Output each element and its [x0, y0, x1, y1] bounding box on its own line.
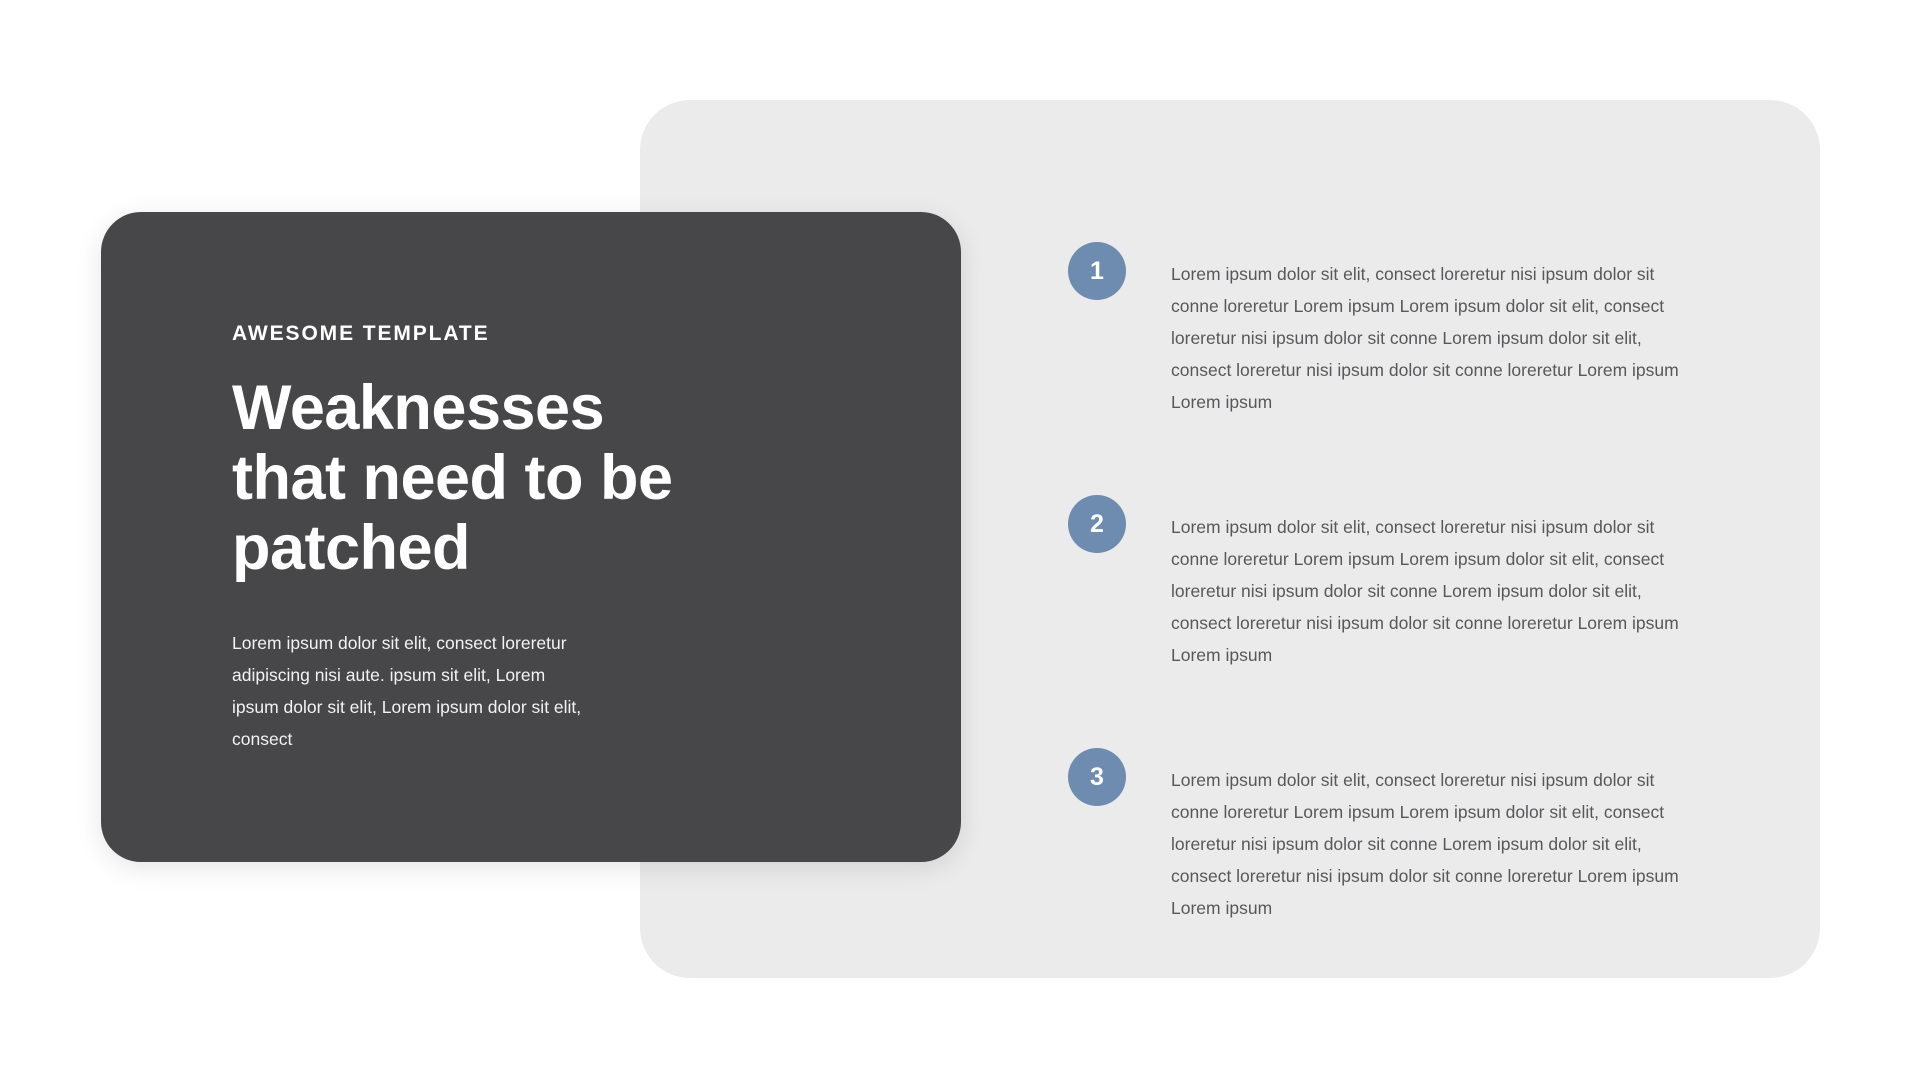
list-item-text-1: Lorem ipsum dolor sit elit, consect lore… — [1171, 258, 1696, 418]
headline-line-2: that need to be — [232, 443, 832, 513]
numbered-list: 1 Lorem ipsum dolor sit elit, consect lo… — [1068, 240, 1708, 941]
headline-line-3: patched — [232, 513, 832, 583]
headline-line-1: Weaknesses — [232, 373, 832, 443]
title-card-body-text: Lorem ipsum dolor sit elit, consect lore… — [232, 627, 592, 755]
title-card: AWESOME TEMPLATE Weaknesses that need to… — [101, 212, 961, 862]
slide-canvas: AWESOME TEMPLATE Weaknesses that need to… — [0, 0, 1920, 1080]
number-badge-3: 3 — [1068, 748, 1126, 806]
eyebrow-label: AWESOME TEMPLATE — [232, 322, 832, 345]
page-title: Weaknesses that need to be patched — [232, 373, 832, 583]
list-item: 2 Lorem ipsum dolor sit elit, consect lo… — [1068, 493, 1708, 688]
list-item: 1 Lorem ipsum dolor sit elit, consect lo… — [1068, 240, 1708, 435]
title-card-content: AWESOME TEMPLATE Weaknesses that need to… — [232, 322, 832, 755]
list-item-text-3: Lorem ipsum dolor sit elit, consect lore… — [1171, 764, 1696, 924]
number-badge-1: 1 — [1068, 242, 1126, 300]
list-item-text-2: Lorem ipsum dolor sit elit, consect lore… — [1171, 511, 1696, 671]
list-item: 3 Lorem ipsum dolor sit elit, consect lo… — [1068, 746, 1708, 941]
number-badge-2: 2 — [1068, 495, 1126, 553]
